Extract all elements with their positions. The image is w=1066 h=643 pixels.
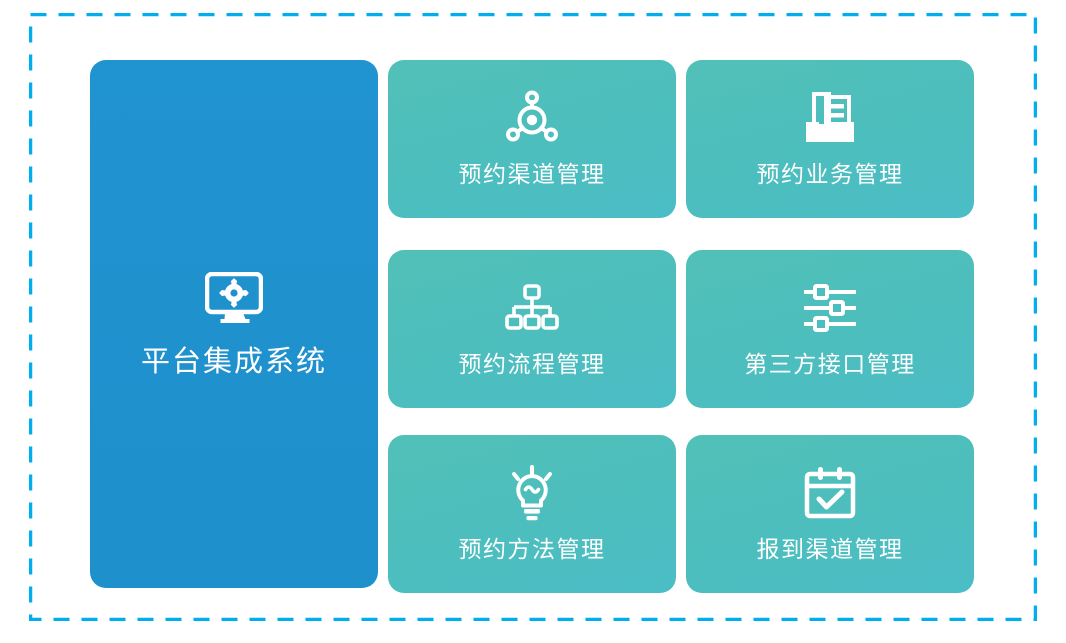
monitor-gear-icon <box>205 269 263 327</box>
card-checkin-channel-management[interactable]: 报到渠道管理 <box>686 435 974 593</box>
network-hub-icon <box>503 89 561 147</box>
card-appointment-business-management[interactable]: 预约业务管理 <box>686 60 974 218</box>
org-chart-icon <box>504 279 560 337</box>
card-business-label: 预约业务管理 <box>757 161 904 189</box>
document-tray-icon <box>801 89 859 147</box>
card-appointment-process-management[interactable]: 预约流程管理 <box>388 250 676 408</box>
card-platform-label: 平台集成系统 <box>141 345 327 380</box>
lightbulb-icon <box>505 464 559 522</box>
calendar-check-icon <box>803 464 857 522</box>
card-third-party-interface-management[interactable]: 第三方接口管理 <box>686 250 974 408</box>
card-process-label: 预约流程管理 <box>459 351 606 379</box>
card-channel-label: 预约渠道管理 <box>459 161 606 189</box>
card-appointment-channel-management[interactable]: 预约渠道管理 <box>388 60 676 218</box>
diagram-canvas: 平台集成系统 预约渠道管理 <box>0 0 1066 643</box>
card-appointment-method-management[interactable]: 预约方法管理 <box>388 435 676 593</box>
card-method-label: 预约方法管理 <box>459 536 606 564</box>
card-thirdparty-label: 第三方接口管理 <box>744 351 916 379</box>
sliders-icon <box>801 279 859 337</box>
card-platform-integration-system[interactable]: 平台集成系统 <box>90 60 378 588</box>
card-checkin-label: 报到渠道管理 <box>757 536 904 564</box>
